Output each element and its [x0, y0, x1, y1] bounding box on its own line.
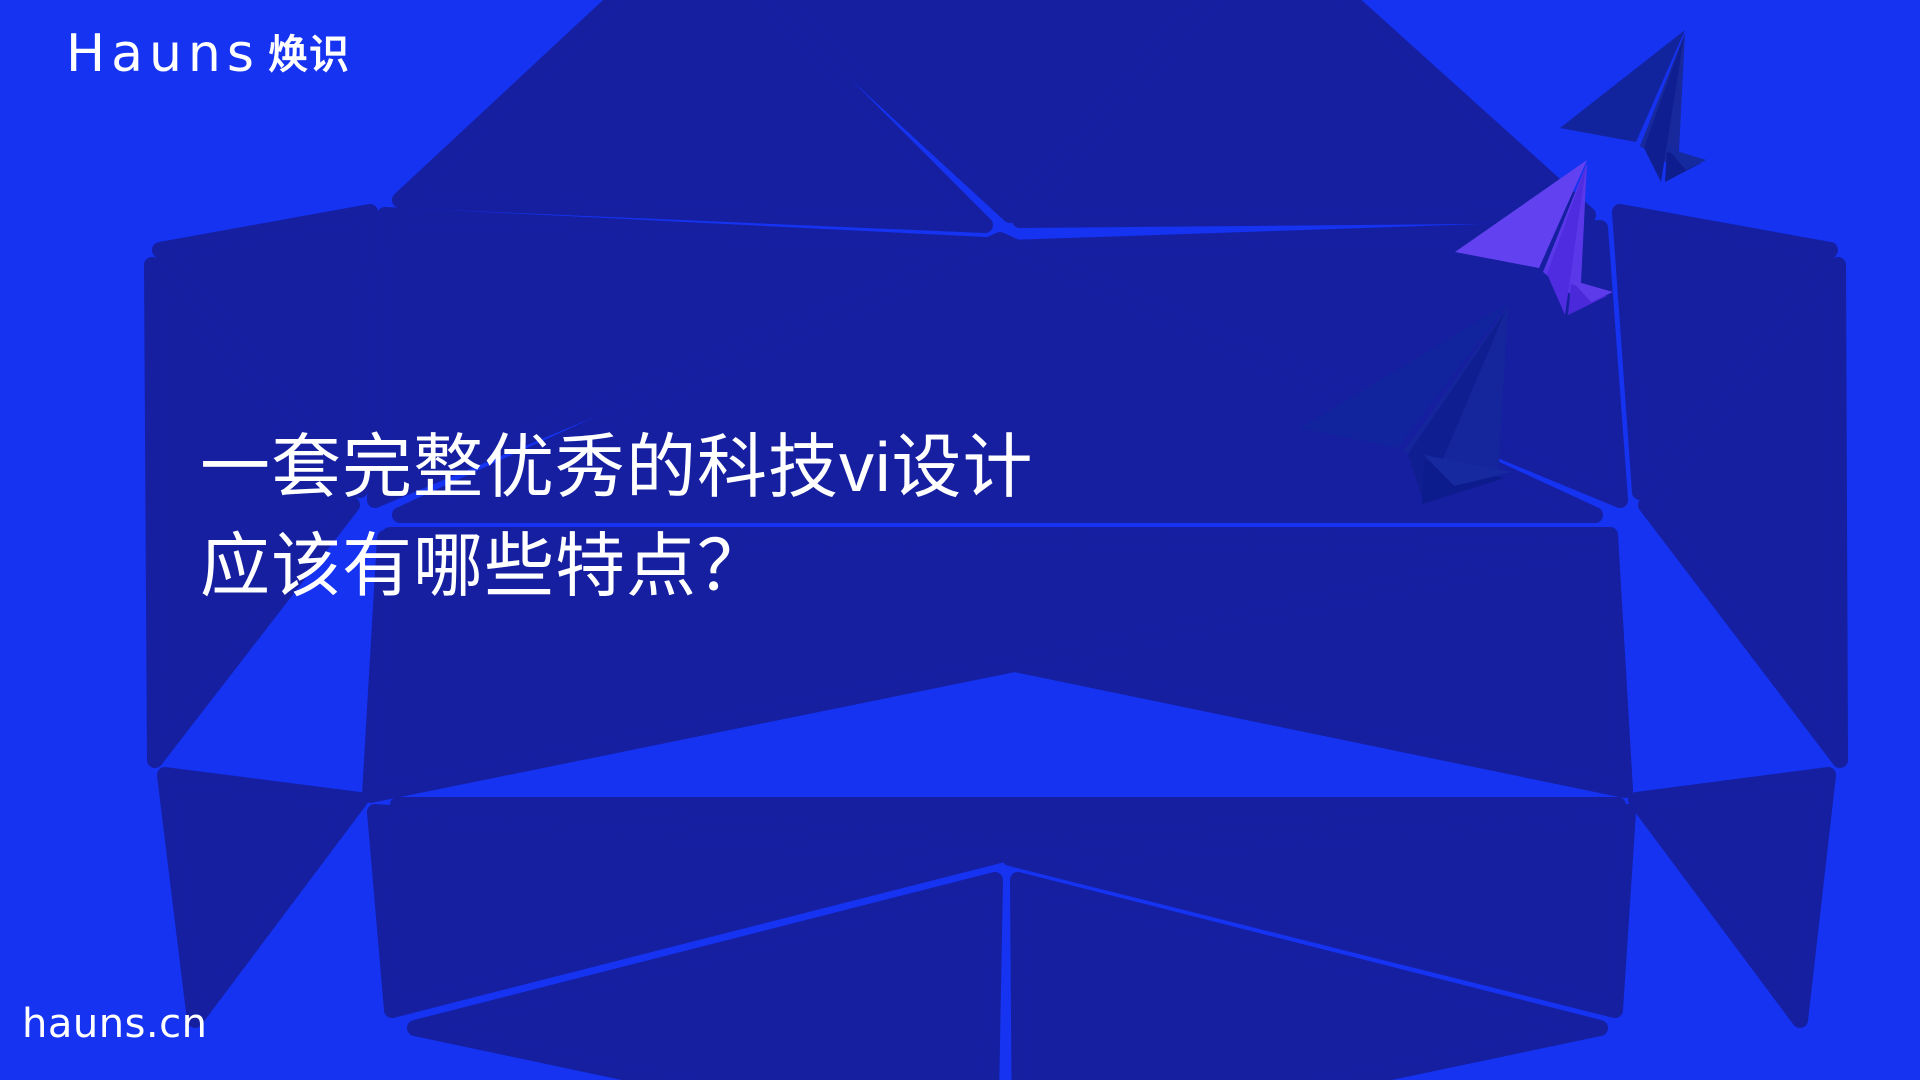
paper-plane-large-navy-icon: [1300, 303, 1512, 504]
headline-block: 一套完整优秀的科技vi设计 应该有哪些特点？: [200, 418, 1260, 617]
paper-plane-purple-middle-icon: [1455, 160, 1613, 315]
brand-logo[interactable]: Hauns 焕识: [66, 28, 350, 80]
headline-line-2: 应该有哪些特点？: [200, 517, 1260, 616]
logo-chinese-name: 焕识: [268, 33, 350, 80]
headline-line-1: 一套完整优秀的科技vi设计: [200, 418, 1260, 517]
paper-plane-small-top-right-icon: [1560, 30, 1706, 182]
footer-website-url[interactable]: hauns.cn: [22, 1004, 207, 1044]
logo-wordmark: Hauns: [66, 28, 260, 80]
slide-canvas: Hauns 焕识 一套完整优秀的科技vi设计 应该有哪些特点？ hauns.cn: [0, 0, 1920, 1080]
